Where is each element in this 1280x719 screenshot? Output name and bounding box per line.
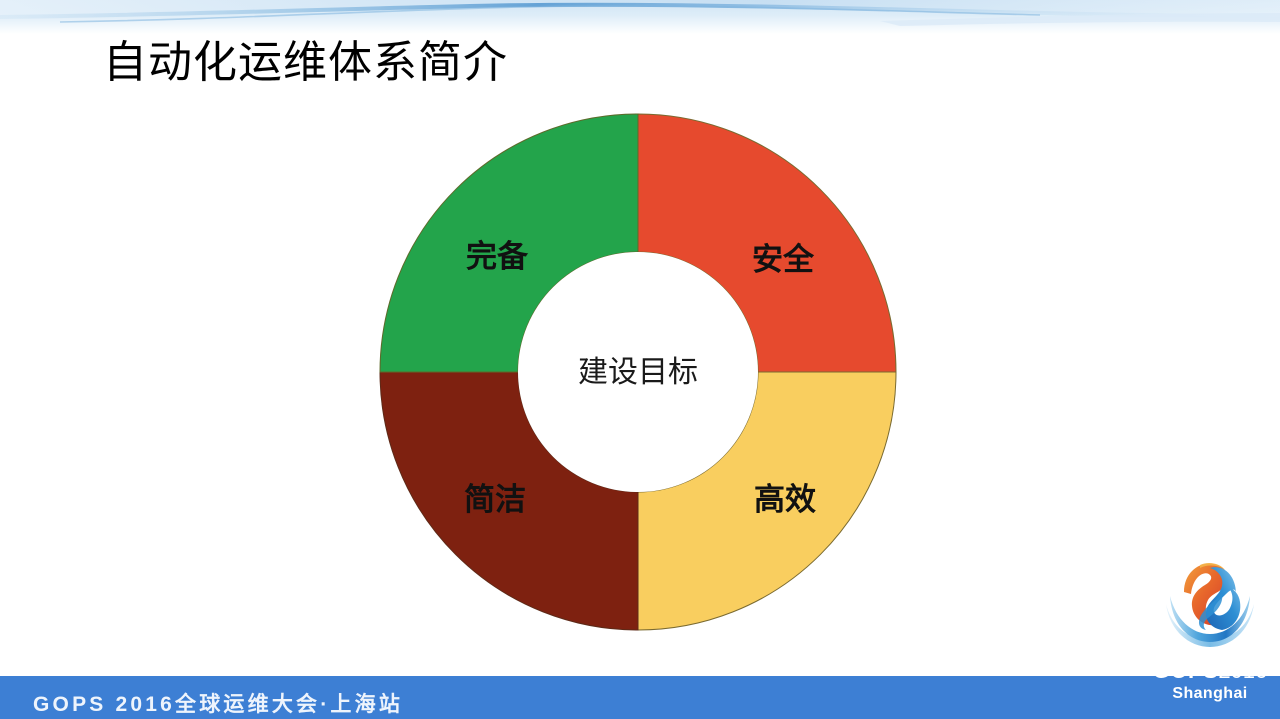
page-title: 自动化运维体系简介	[103, 36, 508, 90]
footer-conference-text: GOPS 2016全球运维大会·上海站	[33, 688, 403, 718]
donut-label-top-right: 安全	[752, 242, 815, 277]
donut-label-bottom-left: 简洁	[464, 482, 526, 517]
gops-logo: GOPS2016 Shanghai	[1148, 548, 1272, 719]
gops-wordmark: GOPS2016 Shanghai	[1148, 658, 1272, 703]
logo-brand-text: GOPS	[1153, 658, 1219, 683]
gops-swirl-icon	[1160, 548, 1260, 652]
donut-label-top-left: 完备	[466, 239, 529, 274]
goals-donut-chart: 安全 高效 简洁 完备 建设目标	[378, 112, 898, 632]
logo-year-text: 2016	[1218, 658, 1267, 683]
logo-city-text: Shanghai	[1148, 685, 1272, 703]
donut-center-label: 建设目标	[578, 356, 698, 389]
header-wave-decoration	[0, 0, 1280, 34]
donut-label-bottom-right: 高效	[754, 482, 816, 517]
